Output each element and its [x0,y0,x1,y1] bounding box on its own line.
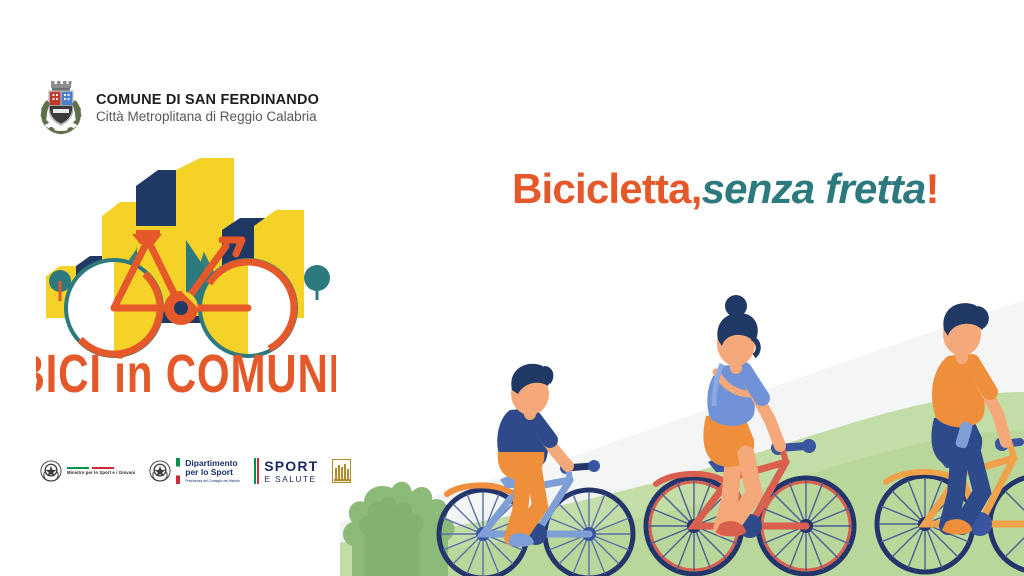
comune-subtitle: Città Metroplitana di Reggio Calabria [96,109,319,126]
page-headline: Bicicletta,senza fretta! [512,168,939,210]
poster-canvas: COMUNE DI SAN FERDINANDO Città Metroplit… [0,0,1024,576]
bici-in-comune-logo: BICI in COMUNE [36,158,336,403]
tricolor-rule-red [92,467,114,469]
ministro-rules-and-label: Ministro per lo Sport e i Giovani [67,467,135,475]
logo-wordmark: BICI in COMUNE [36,344,336,403]
sport-salute-label-line1: SPORT [264,459,318,473]
tricolor-rule-green [67,467,89,469]
partner-logo-strip: Ministro per lo Sport e i Giovani Dipart… [40,452,351,490]
svg-text:BICI in COMUNE: BICI in COMUNE [36,344,336,403]
sport-salute-label-line2: E SALUTE [264,475,318,484]
sport-salute-tricolor-bars [254,458,260,484]
dipartimento-label-line2: per lo Sport [185,468,239,477]
italian-republic-emblem-icon [149,460,171,482]
partner-sport-e-salute: SPORT E SALUTE [254,454,319,488]
tricolor-bar-green [254,458,256,484]
headline-part-orange: Bicicletta, [512,165,702,212]
italian-republic-emblem-icon [40,460,62,482]
ministro-label: Ministro per lo Sport e i Giovani [67,470,135,475]
comune-title: COMUNE DI SAN FERDINANDO [96,91,319,109]
tricolor-bar-icon [176,458,180,484]
partner-ministro-sport-giovani: Ministro per lo Sport e i Giovani [40,454,135,488]
partner-dipartimento-sport: Dipartimento per lo Sport Presidenza del… [149,454,239,488]
anci-emblem-icon [332,459,351,483]
tricolor-bar-red [257,458,259,484]
comune-lockup: COMUNE DI SAN FERDINANDO Città Metroplit… [38,80,319,136]
comune-coat-of-arms-icon [38,80,84,136]
dipartimento-sublabel: Presidenza del Consiglio dei Ministri [185,479,239,483]
headline-part-teal: senza fretta [702,165,926,212]
headline-part-exclaim: ! [925,165,938,212]
